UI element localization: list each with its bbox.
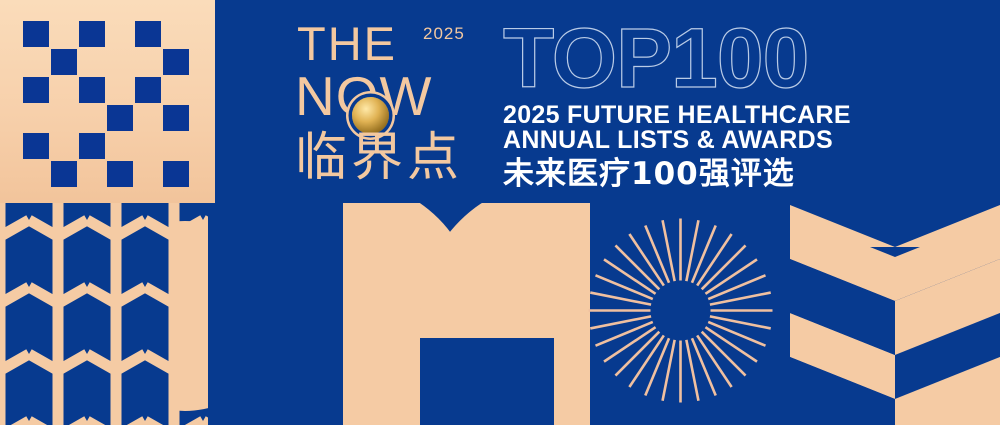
subtitle-en-line1: 2025 FUTURE HEALTHCARE <box>503 103 853 128</box>
checkerboard-cell <box>163 161 189 187</box>
checkerboard-block <box>0 0 215 203</box>
checkerboard-cell <box>135 21 161 47</box>
subtitle-en-line2: ANNUAL LISTS & AWARDS <box>503 128 853 153</box>
checkerboard-cell <box>107 105 133 131</box>
checkerboard-cell <box>107 161 133 187</box>
circle-cluster <box>170 203 590 425</box>
logo-year-superscript: 2025 <box>423 24 465 44</box>
checkerboard-cell <box>23 77 49 103</box>
checkerboard-pattern <box>23 21 189 187</box>
logo-word-the: THE <box>297 22 397 66</box>
top100-title: TOP100 <box>503 18 853 98</box>
checkerboard-cell <box>51 161 77 187</box>
checkerboard-cell <box>79 133 105 159</box>
checkerboard-cell <box>79 21 105 47</box>
circle-square-notch <box>420 338 554 425</box>
logo-word-chinese: 临界点 <box>295 130 463 186</box>
checkerboard-cell <box>135 77 161 103</box>
checkerboard-cell <box>51 49 77 75</box>
sunburst-svg <box>588 218 773 403</box>
subtitle-cn: 未来医疗100强评选 <box>503 156 853 192</box>
sunburst-pattern <box>588 218 773 403</box>
checkerboard-cell <box>79 77 105 103</box>
checkerboard-cell <box>23 21 49 47</box>
the-now-logo: THE 2025 NOW 临界点 <box>295 22 485 192</box>
chevron-stripes-svg <box>790 205 1000 425</box>
checkerboard-cell <box>23 133 49 159</box>
circle-middle-mask <box>208 203 343 425</box>
chevron-stripes-pattern <box>790 205 1000 425</box>
checkerboard-cell <box>163 105 189 131</box>
banner-root: THE 2025 NOW 临界点 TOP100 2025 FUTURE HEAL… <box>0 0 1000 425</box>
checkerboard-cell <box>163 49 189 75</box>
headline-block: TOP100 2025 FUTURE HEALTHCARE ANNUAL LIS… <box>503 18 853 192</box>
